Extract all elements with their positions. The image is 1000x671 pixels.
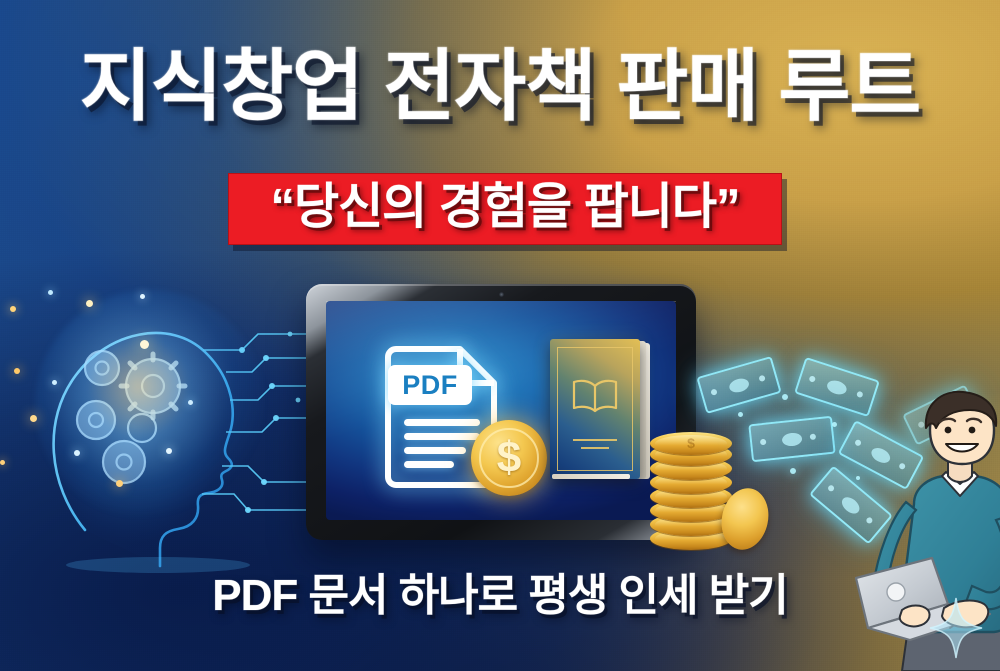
stack-coin-top: $: [650, 432, 732, 455]
particle-spark: [52, 380, 57, 385]
pdf-text-line: [404, 419, 480, 426]
book-cover: [550, 339, 640, 479]
stack-coin-dollar-symbol: $: [687, 435, 695, 451]
particle-spark: [166, 448, 172, 454]
money-sparkle: [856, 476, 860, 480]
particle-spark: [0, 460, 5, 465]
open-book-emblem-icon: [570, 377, 620, 413]
dollar-coin-icon: $: [471, 420, 547, 496]
tablet-screen: PDF $: [326, 301, 676, 520]
money-sparkle: [790, 468, 796, 474]
coin-dollar-symbol: $: [497, 433, 521, 483]
pdf-text-line: [404, 461, 454, 468]
tablet-device-icon: PDF $: [306, 284, 696, 540]
particle-spark: [14, 368, 20, 374]
page-title: 지식창업 전자책 판매 루트: [0, 46, 1000, 128]
particle-spark: [48, 290, 53, 295]
book-title-rule: [581, 447, 609, 449]
particle-spark: [116, 480, 123, 487]
particle-spark: [188, 400, 193, 405]
particle-spark: [74, 450, 80, 456]
money-sparkle: [832, 422, 837, 427]
particle-spark: [86, 300, 93, 307]
money-sparkle: [782, 394, 788, 400]
brain-head-icon: [0, 280, 320, 570]
poster-canvas: PDF $: [0, 0, 1000, 671]
subtitle-banner: “당신의 경험을 팝니다”: [228, 173, 782, 245]
tablet-camera-icon: [499, 292, 504, 297]
money-sparkle: [738, 412, 743, 417]
tagline-text: PDF 문서 하나로 평생 인세 받기: [0, 559, 1000, 623]
pdf-text-line: [404, 447, 466, 454]
particle-spark: [30, 415, 37, 422]
ebook-icon: [550, 339, 646, 481]
subtitle-text: “당신의 경험을 팝니다”: [271, 183, 740, 232]
particle-spark: [140, 294, 145, 299]
brain-glow: [35, 290, 265, 520]
book-page-edge: [552, 474, 630, 479]
book-title-rule: [573, 439, 617, 441]
pdf-text-line: [404, 433, 480, 440]
particle-spark: [10, 306, 16, 312]
particle-spark: [140, 340, 149, 349]
pdf-label: PDF: [388, 365, 472, 405]
